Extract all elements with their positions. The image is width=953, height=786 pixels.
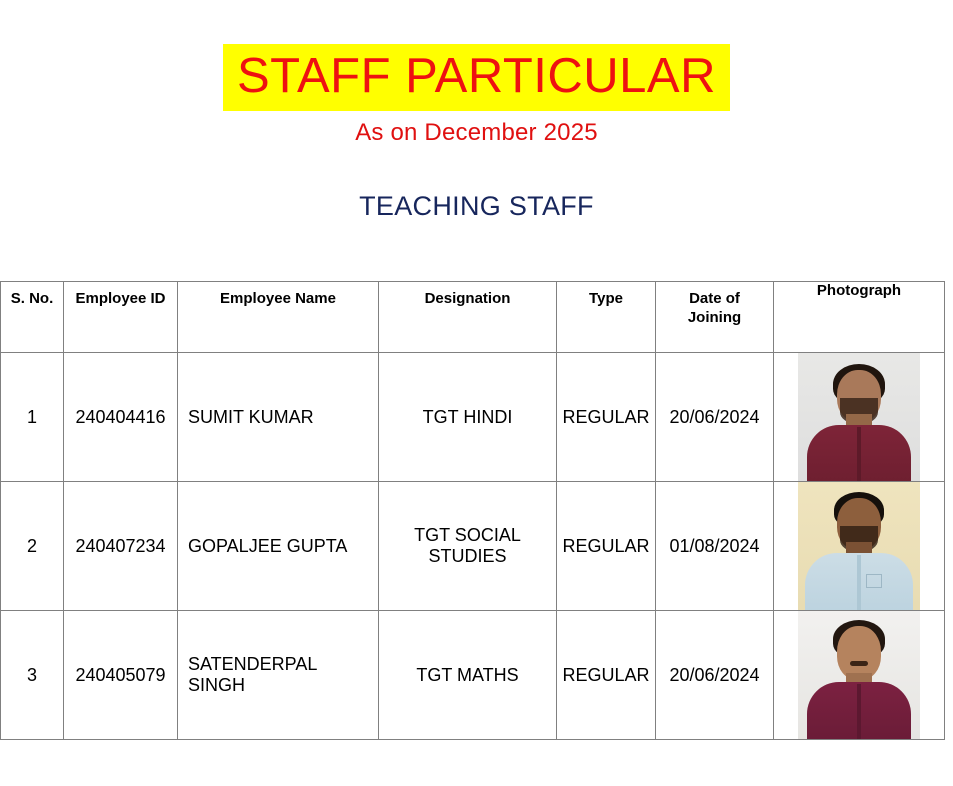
cell-type: REGULAR bbox=[557, 353, 656, 482]
table-row: 1 240404416 SUMIT KUMAR TGT HINDI REGULA… bbox=[1, 353, 945, 482]
table-header: S. No. Employee ID Employee Name Designa… bbox=[1, 282, 945, 353]
face-shape bbox=[837, 626, 881, 680]
photo-frame bbox=[774, 353, 944, 481]
cell-date-of-joining: 01/08/2024 bbox=[656, 482, 774, 611]
employee-photo bbox=[798, 611, 920, 739]
shirt-placket bbox=[857, 427, 861, 481]
column-header-type: Type bbox=[557, 282, 656, 353]
cell-photograph bbox=[774, 611, 945, 740]
shirt-placket bbox=[857, 555, 861, 610]
document-header: STAFF PARTICULAR As on December 2025 TEA… bbox=[0, 0, 953, 222]
page-title: STAFF PARTICULAR bbox=[223, 44, 730, 111]
employee-photo bbox=[798, 353, 920, 481]
cell-employee-name: SUMIT KUMAR bbox=[178, 353, 379, 482]
column-header-photograph: Photograph bbox=[774, 282, 945, 353]
cell-employee-id: 240407234 bbox=[64, 482, 178, 611]
as-on-date-subtitle: As on December 2025 bbox=[0, 119, 953, 147]
cell-employee-name: SATENDERPAL SINGH bbox=[178, 611, 379, 740]
cell-date-of-joining: 20/06/2024 bbox=[656, 353, 774, 482]
cell-type: REGULAR bbox=[557, 482, 656, 611]
cell-photograph bbox=[774, 482, 945, 611]
table-body: 1 240404416 SUMIT KUMAR TGT HINDI REGULA… bbox=[1, 353, 945, 740]
column-header-designation: Designation bbox=[379, 282, 557, 353]
cell-type: REGULAR bbox=[557, 611, 656, 740]
cell-employee-name: GOPALJEE GUPTA bbox=[178, 482, 379, 611]
cell-employee-id: 240404416 bbox=[64, 353, 178, 482]
photo-frame bbox=[774, 611, 944, 739]
column-header-employee-id: Employee ID bbox=[64, 282, 178, 353]
doj-label-line1: Date of bbox=[689, 290, 740, 307]
cell-photograph bbox=[774, 353, 945, 482]
column-header-employee-name: Employee Name bbox=[178, 282, 379, 353]
section-title: TEACHING STAFF bbox=[0, 191, 953, 222]
column-header-sno: S. No. bbox=[1, 282, 64, 353]
employee-photo bbox=[798, 482, 920, 610]
moustache-shape bbox=[850, 661, 868, 666]
table-row: 2 240407234 GOPALJEE GUPTA TGT SOCIAL ST… bbox=[1, 482, 945, 611]
table-row: 3 240405079 SATENDERPAL SINGH TGT MATHS … bbox=[1, 611, 945, 740]
cell-sno: 3 bbox=[1, 611, 64, 740]
photo-frame bbox=[774, 482, 944, 610]
doj-label-line2: Joining bbox=[688, 309, 741, 326]
staff-table-container: S. No. Employee ID Employee Name Designa… bbox=[0, 281, 939, 740]
cell-designation: TGT MATHS bbox=[379, 611, 557, 740]
cell-employee-id: 240405079 bbox=[64, 611, 178, 740]
staff-table: S. No. Employee ID Employee Name Designa… bbox=[0, 281, 945, 740]
cell-designation: TGT SOCIAL STUDIES bbox=[379, 482, 557, 611]
cell-designation: TGT HINDI bbox=[379, 353, 557, 482]
table-header-row: S. No. Employee ID Employee Name Designa… bbox=[1, 282, 945, 353]
cell-sno: 2 bbox=[1, 482, 64, 611]
shirt-placket bbox=[857, 684, 861, 739]
shirt-pocket bbox=[866, 574, 882, 588]
cell-date-of-joining: 20/06/2024 bbox=[656, 611, 774, 740]
column-header-date-of-joining: Date of Joining bbox=[656, 282, 774, 353]
cell-sno: 1 bbox=[1, 353, 64, 482]
